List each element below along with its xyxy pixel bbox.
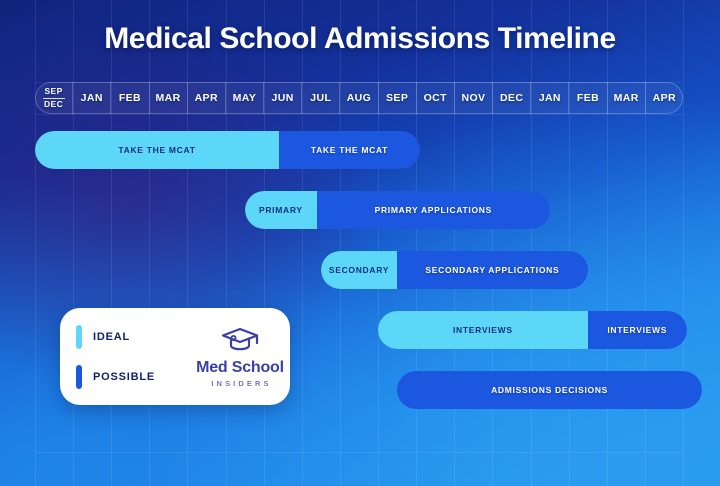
- legend-label-possible: POSSIBLE: [93, 371, 155, 383]
- timeline-bar-primary-applications[interactable]: PRIMARYPRIMARY APPLICATIONS: [245, 191, 550, 229]
- legend-swatch-possible: [76, 365, 82, 389]
- legend-item-ideal: IDEAL: [76, 325, 196, 349]
- legend-card: IDEAL POSSIBLE Med School INSIDERS: [60, 308, 290, 405]
- bar-segment-take-the-mcat-ideal[interactable]: TAKE THE MCAT: [35, 131, 279, 169]
- graduation-cap-icon: [219, 325, 261, 358]
- bar-segment-take-the-mcat-possible[interactable]: TAKE THE MCAT: [279, 131, 420, 169]
- bar-segment-primary-applications-possible[interactable]: PRIMARY APPLICATIONS: [317, 191, 550, 229]
- legend-keys: IDEAL POSSIBLE: [60, 325, 196, 389]
- timeline-bar-interviews[interactable]: INTERVIEWSINTERVIEWS: [378, 311, 687, 349]
- bar-segment-interviews-ideal[interactable]: INTERVIEWS: [378, 311, 588, 349]
- brand-logo: Med School INSIDERS: [196, 325, 290, 388]
- infographic-canvas: Medical School Admissions Timeline SEPDE…: [0, 0, 720, 486]
- bar-segment-secondary-applications-possible[interactable]: SECONDARY APPLICATIONS: [397, 251, 588, 289]
- legend-label-ideal: IDEAL: [93, 331, 130, 343]
- legend-item-possible: POSSIBLE: [76, 365, 196, 389]
- timeline-bar-secondary-applications[interactable]: SECONDARYSECONDARY APPLICATIONS: [321, 251, 588, 289]
- timeline-bars: TAKE THE MCATTAKE THE MCATPRIMARYPRIMARY…: [0, 0, 720, 486]
- bar-segment-primary-applications-ideal[interactable]: PRIMARY: [245, 191, 317, 229]
- timeline-bar-admissions-decisions[interactable]: ADMISSIONS DECISIONS: [397, 371, 702, 409]
- bar-segment-secondary-applications-ideal[interactable]: SECONDARY: [321, 251, 397, 289]
- bar-segment-interviews-possible[interactable]: INTERVIEWS: [588, 311, 687, 349]
- logo-name: Med School: [196, 360, 284, 376]
- logo-subtitle: INSIDERS: [211, 379, 271, 388]
- legend-swatch-ideal: [76, 325, 82, 349]
- bar-segment-admissions-decisions-possible[interactable]: ADMISSIONS DECISIONS: [397, 371, 702, 409]
- timeline-bar-take-the-mcat[interactable]: TAKE THE MCATTAKE THE MCAT: [35, 131, 420, 169]
